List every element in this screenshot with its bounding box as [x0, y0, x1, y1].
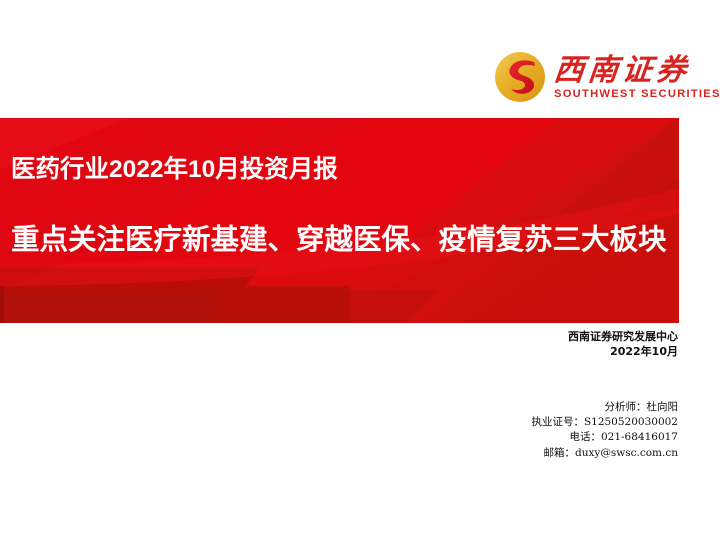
report-date: 2022年10月 — [380, 344, 678, 359]
logo-english-name: SOUTHWEST SECURITIES — [554, 88, 720, 101]
title-banner: 医药行业2022年10月投资月报 重点关注医疗新基建、穿越医保、疫情复苏三大板块 — [0, 118, 679, 323]
report-title: 医药行业2022年10月投资月报 — [11, 155, 338, 185]
southwest-securities-swirl-logo-icon — [494, 51, 546, 103]
company-logo: 西南证券 SOUTHWEST SECURITIES — [494, 46, 686, 108]
analyst-contact-block: 分析师：杜向阳 执业证号：S1250520030002 电话：021-68416… — [380, 400, 678, 461]
logo-wordmark: 西南证券 SOUTHWEST SECURITIES — [554, 53, 720, 101]
phone-line: 电话：021-68416017 — [380, 430, 678, 445]
license-line: 执业证号：S1250520030002 — [380, 415, 678, 430]
logo-chinese-name: 西南证券 — [552, 55, 720, 87]
email-line: 邮箱：duxy@swsc.com.cn — [380, 446, 678, 461]
banner-text-group: 医药行业2022年10月投资月报 重点关注医疗新基建、穿越医保、疫情复苏三大板块 — [0, 118, 679, 323]
institution-name: 西南证券研究发展中心 — [380, 329, 678, 344]
presentation-slide: 西南证券 SOUTHWEST SECURITIES — [0, 0, 720, 540]
analyst-line: 分析师：杜向阳 — [380, 400, 678, 415]
report-subtitle: 重点关注医疗新基建、穿越医保、疫情复苏三大板块 — [11, 222, 667, 258]
institution-block: 西南证券研究发展中心 2022年10月 — [380, 329, 678, 359]
